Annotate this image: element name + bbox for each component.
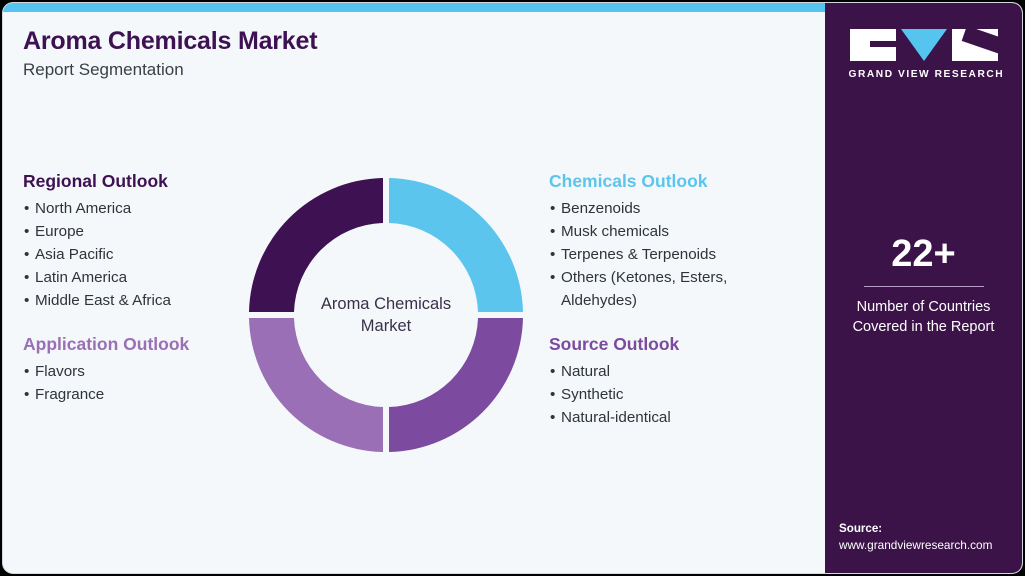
application-outlook-list: Flavors Fragrance — [23, 360, 238, 406]
countries-stat: 22+ Number of Countries Covered in the R… — [825, 235, 1022, 337]
chemicals-outlook-heading: Chemicals Outlook — [549, 171, 811, 193]
donut-slice-application — [249, 318, 383, 452]
list-item: Benzenoids — [549, 197, 811, 220]
grand-view-research-logo: GRAND VIEW RESEARCH — [849, 29, 999, 80]
logo-g-notch — [870, 41, 896, 47]
list-item: Flavors — [23, 360, 238, 383]
stat-caption-line2: Covered in the Report — [825, 317, 1022, 337]
list-item: Fragrance — [23, 383, 238, 406]
logo-marks — [849, 29, 999, 61]
application-outlook-heading: Application Outlook — [23, 334, 238, 356]
brand-panel: GRAND VIEW RESEARCH 22+ Number of Countr… — [825, 3, 1022, 573]
donut-slice-source — [389, 318, 523, 452]
list-item: Latin America — [23, 266, 238, 289]
page-title: Aroma Chemicals Market — [23, 27, 317, 56]
right-outlook-column: Chemicals Outlook Benzenoids Musk chemic… — [549, 171, 811, 430]
left-outlook-column: Regional Outlook North America Europe As… — [23, 171, 238, 406]
list-item: Terpenes & Terpenoids — [549, 243, 811, 266]
logo-wordmark: GRAND VIEW RESEARCH — [849, 69, 999, 80]
stat-divider — [864, 286, 984, 287]
list-item: Synthetic — [549, 383, 811, 406]
regional-outlook-list: North America Europe Asia Pacific Latin … — [23, 197, 238, 312]
list-item: Natural — [549, 360, 811, 383]
list-item: North America — [23, 197, 238, 220]
source-label: Source: — [839, 520, 1014, 537]
segmentation-donut-chart: Aroma Chemicals Market — [246, 175, 526, 455]
donut-slice-regional — [249, 178, 383, 312]
logo-letter-g-icon — [850, 29, 896, 61]
logo-r-wedge — [961, 29, 997, 55]
page-subtitle: Report Segmentation — [23, 60, 184, 80]
list-item-continuation: Aldehydes) — [549, 289, 811, 312]
source-block: Source: www.grandviewresearch.com — [839, 520, 1014, 555]
chemicals-outlook-list: Benzenoids Musk chemicals Terpenes & Ter… — [549, 197, 811, 312]
logo-letter-v-triangle-icon — [901, 29, 947, 61]
list-item: Europe — [23, 220, 238, 243]
list-item: Asia Pacific — [23, 243, 238, 266]
stat-value: 22+ — [825, 235, 1022, 273]
list-item: Others (Ketones, Esters, — [549, 266, 811, 289]
list-item: Middle East & Africa — [23, 289, 238, 312]
source-url[interactable]: www.grandviewresearch.com — [839, 537, 1014, 555]
regional-outlook-heading: Regional Outlook — [23, 171, 238, 193]
source-outlook-list: Natural Synthetic Natural-identical — [549, 360, 811, 429]
infographic-canvas: Aroma Chemicals Market Report Segmentati… — [0, 0, 1025, 576]
list-item: Musk chemicals — [549, 220, 811, 243]
logo-letter-r-icon — [952, 29, 998, 61]
stat-caption-line1: Number of Countries — [825, 297, 1022, 317]
source-outlook-heading: Source Outlook — [549, 334, 811, 356]
column-spacer — [23, 312, 238, 334]
donut-slice-chemicals — [389, 178, 523, 312]
infographic-card: Aroma Chemicals Market Report Segmentati… — [3, 3, 1022, 573]
column-spacer — [549, 312, 811, 334]
top-accent-strip — [3, 3, 825, 12]
stat-caption: Number of Countries Covered in the Repor… — [825, 297, 1022, 337]
list-item: Natural-identical — [549, 406, 811, 429]
